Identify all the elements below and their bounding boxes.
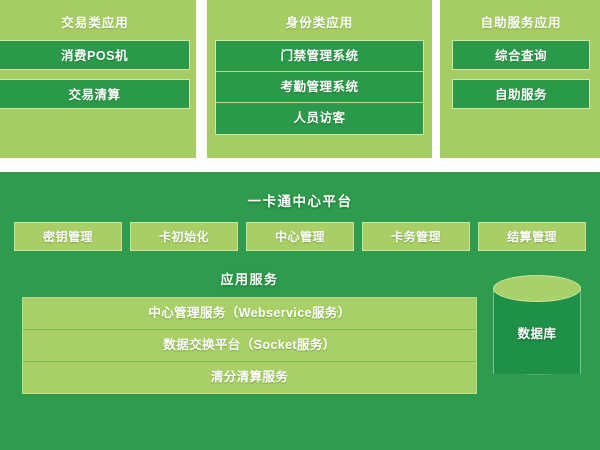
capability-card-service-management[interactable]: 卡务管理: [362, 222, 470, 251]
app-box-access-control-system[interactable]: 门禁管理系统: [216, 41, 423, 72]
app-box-visitor-management[interactable]: 人员访客: [216, 103, 423, 134]
capability-card-initialization[interactable]: 卡初始化: [130, 222, 238, 251]
central-platform-section: 一卡通中心平台 密钥管理 卡初始化 中心管理 卡务管理 结算管理 应用服务 中心…: [0, 172, 600, 450]
application-services-title: 应用服务: [22, 269, 477, 297]
application-services-section: 应用服务 中心管理服务（Webservice服务） 数据交换平台（Socket服…: [0, 269, 600, 394]
architecture-diagram: 交易类应用 消费POS机 交易清算 身份类应用 门禁管理系统 考勤管理系统 人员…: [0, 0, 600, 450]
capability-settlement-management[interactable]: 结算管理: [478, 222, 586, 251]
database-label: 数据库: [493, 323, 581, 342]
panel-title-self-service: 自助服务应用: [452, 0, 590, 40]
panel-title-transaction: 交易类应用: [0, 0, 190, 40]
app-box-comprehensive-query[interactable]: 综合查询: [452, 40, 590, 70]
application-services-box: 中心管理服务（Webservice服务） 数据交换平台（Socket服务） 清分…: [22, 297, 477, 394]
platform-title: 一卡通中心平台: [0, 172, 600, 222]
panel-boxes-identity: 门禁管理系统 考勤管理系统 人员访客: [215, 40, 424, 135]
panel-divider-2: [432, 0, 440, 158]
application-services-column: 应用服务 中心管理服务（Webservice服务） 数据交换平台（Socket服…: [22, 269, 477, 394]
service-row-clearing-settlement[interactable]: 清分清算服务: [23, 362, 476, 393]
application-panels-row: 交易类应用 消费POS机 交易清算 身份类应用 门禁管理系统 考勤管理系统 人员…: [0, 0, 600, 158]
app-box-transaction-settlement[interactable]: 交易清算: [0, 79, 190, 109]
app-box-self-service[interactable]: 自助服务: [452, 79, 590, 109]
panel-self-service-applications: 自助服务应用 综合查询 自助服务: [440, 0, 600, 158]
panel-transaction-applications: 交易类应用 消费POS机 交易清算: [0, 0, 196, 158]
service-row-data-exchange-socket[interactable]: 数据交换平台（Socket服务）: [23, 330, 476, 362]
database-cylinder-icon: 数据库: [493, 275, 581, 387]
platform-capabilities-row: 密钥管理 卡初始化 中心管理 卡务管理 结算管理: [0, 222, 600, 251]
app-box-attendance-system[interactable]: 考勤管理系统: [216, 72, 423, 103]
database-top-ellipse: [493, 275, 581, 302]
panel-identity-applications: 身份类应用 门禁管理系统 考勤管理系统 人员访客: [207, 0, 432, 158]
panel-title-identity: 身份类应用: [215, 0, 424, 40]
capability-center-management[interactable]: 中心管理: [246, 222, 354, 251]
capability-key-management[interactable]: 密钥管理: [14, 222, 122, 251]
section-separator: [0, 158, 600, 172]
service-row-center-management-webservice[interactable]: 中心管理服务（Webservice服务）: [23, 298, 476, 330]
panel-boxes-transaction: 消费POS机 交易清算: [0, 40, 190, 109]
app-box-pos-machine[interactable]: 消费POS机: [0, 40, 190, 70]
panel-divider-1: [196, 0, 207, 158]
panel-boxes-self-service: 综合查询 自助服务: [452, 40, 590, 109]
